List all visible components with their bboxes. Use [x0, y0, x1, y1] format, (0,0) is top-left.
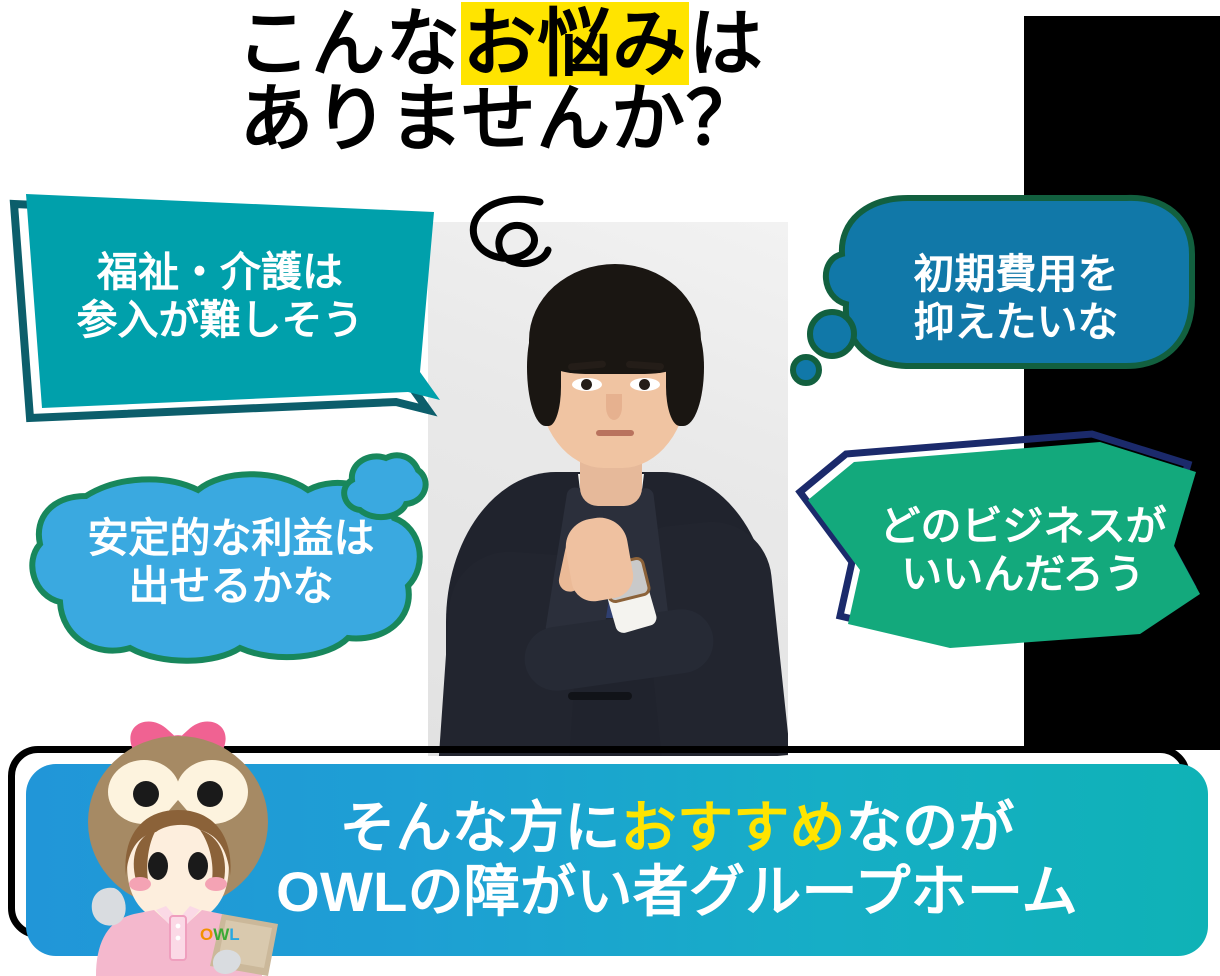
eye-right: [630, 378, 660, 391]
hair-side-left: [527, 318, 561, 426]
headline-text-pre: こんな: [236, 2, 460, 85]
banner-text-pre: そんな方に: [339, 796, 620, 859]
speech-bubble-profit: 安定的な利益は 出せるかな: [26, 452, 436, 672]
owl-mascot: OWL: [72, 718, 302, 976]
eye-left: [572, 378, 602, 391]
banner-line-2: OWLの障がい者グループホーム: [276, 860, 1078, 924]
speech-bubble-business: どのビジネスが いいんだろう: [800, 438, 1212, 662]
scribble-doodle-icon: [462, 190, 582, 290]
nose: [606, 394, 622, 420]
headline-line-2: ありませんか？: [0, 81, 1000, 156]
page-title: こんなお悩みは ありませんか？: [0, 6, 1000, 157]
businessman-photo: [428, 222, 788, 756]
banner-text-post: なのが: [846, 796, 1015, 859]
promo-graphic: こんなお悩みは ありませんか？: [0, 0, 1220, 976]
banner-line-1: そんな方におすすめなのが: [276, 796, 1078, 860]
businessman-figure: [428, 222, 788, 756]
mouth: [596, 430, 634, 436]
speech-bubble-welfare: 福祉・介護は 参入が難しそう: [4, 186, 436, 416]
sleeve-buttons: [568, 692, 632, 700]
owl-logo: OWL: [200, 925, 240, 944]
headline-text-post: は: [689, 2, 764, 85]
banner-highlight: おすすめ: [621, 796, 846, 859]
headline-highlight: お悩み: [461, 2, 689, 85]
headline-line-1: こんなお悩みは: [0, 6, 1000, 81]
hair-side-right: [666, 318, 704, 426]
speech-bubble-cost: 初期費用を 抑えたいな: [796, 188, 1196, 408]
